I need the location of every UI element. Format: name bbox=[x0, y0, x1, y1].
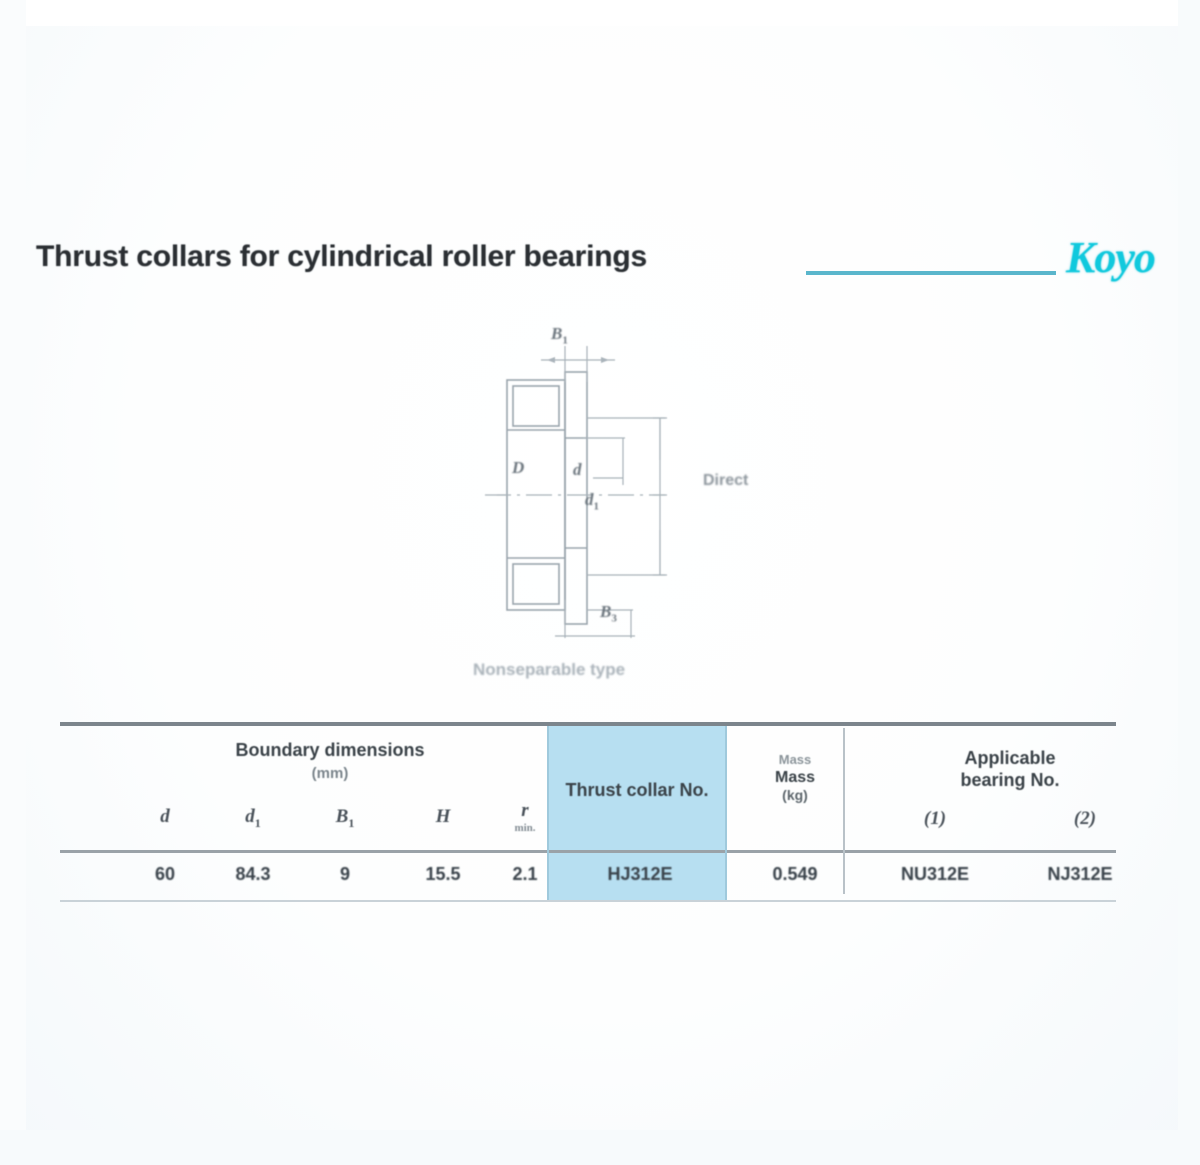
bearing-cross-section-diagram: B1 D d d1 B3 Direct Nonseparable type bbox=[455, 320, 815, 700]
diagram-caption: Nonseparable type bbox=[473, 660, 625, 680]
table-cell-H: 15.5 bbox=[408, 864, 478, 885]
table-vertical-rule-3 bbox=[843, 728, 845, 894]
diagram-svg bbox=[455, 320, 815, 660]
title-divider-rule bbox=[806, 271, 1056, 275]
diagram-right-annotation: Direct bbox=[703, 472, 748, 490]
header-group-applicable-bearing-no: Applicable bearing No. bbox=[860, 748, 1160, 792]
table-rule-header-divider bbox=[60, 850, 1116, 853]
header-group-boundary-dimensions: Boundary dimensions (mm) bbox=[170, 740, 490, 784]
table-cell-r: 2.1 bbox=[490, 864, 560, 885]
diagram-label-D: D bbox=[512, 458, 524, 478]
column-symbol-bearing-1: (1) bbox=[900, 808, 970, 830]
scan-edge-bottom bbox=[0, 1130, 1200, 1165]
table-cell-d: 60 bbox=[130, 864, 200, 885]
table-cell-mass: 0.549 bbox=[750, 864, 840, 885]
page-sheet: Thrust collars for cylindrical roller be… bbox=[0, 0, 1200, 1165]
column-symbol-bearing-2: (2) bbox=[1050, 808, 1120, 830]
page-title: Thrust collars for cylindrical roller be… bbox=[36, 240, 647, 274]
column-symbol-B1: B1 bbox=[310, 806, 380, 831]
table-rule-bottom bbox=[60, 900, 1116, 902]
diagram-label-d: d bbox=[573, 460, 582, 480]
column-symbol-r-min: r min. bbox=[490, 800, 560, 834]
table-cell-B1: 9 bbox=[310, 864, 380, 885]
diagram-label-d1: d1 bbox=[585, 490, 599, 512]
diagram-label-B1: B1 bbox=[551, 324, 568, 346]
koyo-brand-logo: Koyo bbox=[1066, 232, 1155, 283]
specification-table: Boundary dimensions (mm) Thrust collar N… bbox=[60, 722, 1116, 902]
header-group-thrust-collar-no: Thrust collar No. bbox=[552, 780, 722, 802]
table-vertical-rule-2 bbox=[725, 726, 727, 900]
column-symbol-H: H bbox=[408, 806, 478, 828]
table-cell-d1: 84.3 bbox=[218, 864, 288, 885]
diagram-label-B3: B3 bbox=[600, 602, 617, 624]
header-group-mass: Mass Mass (kg) bbox=[750, 752, 840, 804]
scan-edge-top bbox=[0, 0, 1200, 26]
table-cell-thrust-collar-no: HJ312E bbox=[565, 864, 715, 885]
scan-edge-right bbox=[1178, 0, 1200, 1165]
column-symbol-d: d bbox=[130, 806, 200, 828]
scan-edge-left bbox=[0, 0, 26, 1165]
column-symbol-d1: d1 bbox=[218, 806, 288, 831]
table-cell-bearing-2: NJ312E bbox=[1020, 864, 1140, 885]
table-rule-top bbox=[60, 722, 1116, 726]
title-row: Thrust collars for cylindrical roller be… bbox=[36, 236, 1176, 298]
table-cell-bearing-1: NU312E bbox=[875, 864, 995, 885]
